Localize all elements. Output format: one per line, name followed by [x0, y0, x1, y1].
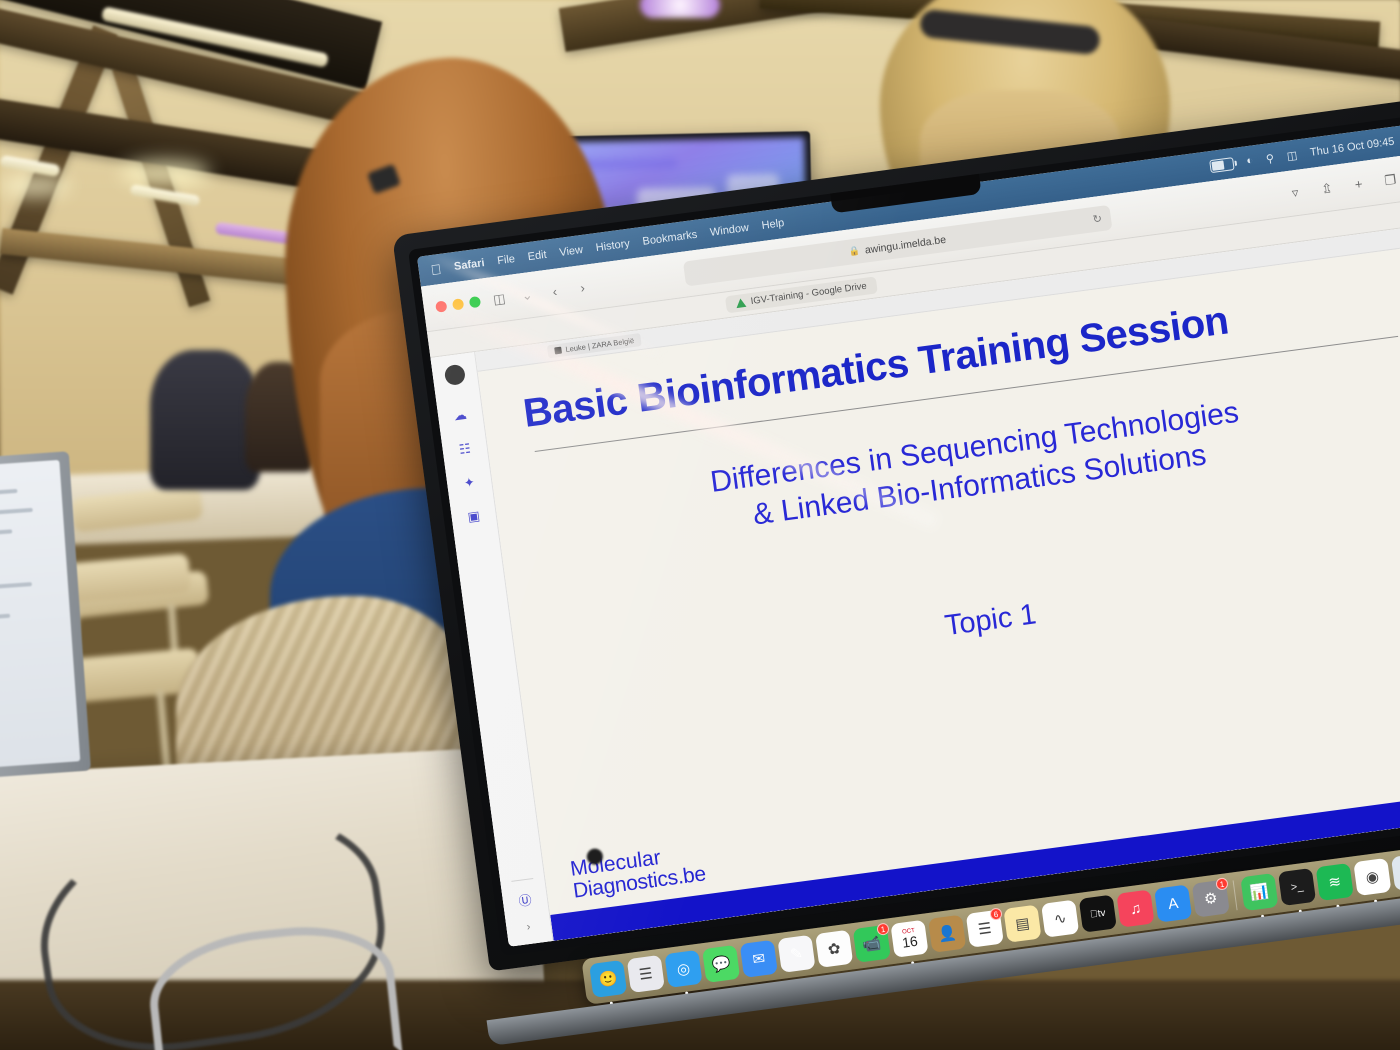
dock-separator — [1233, 880, 1238, 910]
dock-item-numbers[interactable]: 📊 — [1240, 873, 1278, 911]
monitor-icon[interactable]: ▣ — [463, 506, 485, 526]
apps-grid-icon[interactable]: ☷ — [454, 439, 476, 459]
dock-item-photos[interactable]: ✿ — [815, 930, 853, 968]
downloads-icon[interactable]: ▿ — [1285, 183, 1305, 203]
close-button[interactable] — [435, 300, 447, 312]
tab-overview-icon[interactable]: ❐ — [1380, 170, 1400, 190]
user-check-icon[interactable]: Ⓤ — [514, 889, 536, 909]
spotify-icon: ≋ — [1327, 872, 1342, 892]
dock-item-reminders[interactable]: ☰6 — [966, 910, 1004, 948]
macbook-display:  Safari File Edit View History Bookmark… — [417, 125, 1400, 947]
forward-icon[interactable]: › — [572, 278, 592, 298]
chevron-right-icon[interactable]: › — [517, 917, 539, 937]
menu-item-bookmarks[interactable]: Bookmarks — [642, 229, 698, 248]
awingu-sidebar-bottom: Ⓤ › — [500, 877, 551, 939]
dock-item-mail[interactable]: ✉ — [740, 940, 778, 978]
dock-item-appstore[interactable]: A — [1154, 884, 1192, 922]
window-controls[interactable] — [435, 296, 481, 313]
dock-item-notes[interactable]: ▤ — [1003, 905, 1041, 943]
dock-item-finder[interactable]: 🙂 — [589, 960, 627, 998]
dock-item-spotify[interactable]: ≋ — [1316, 863, 1354, 901]
dock-item-messages[interactable]: 💬 — [702, 945, 740, 983]
badge-count: 6 — [989, 907, 1002, 920]
music-icon: ♫ — [1129, 899, 1142, 917]
badge-count: 1 — [876, 922, 889, 935]
dock-item-freeform[interactable]: ✎ — [777, 935, 815, 973]
pin-icon[interactable]: ✦ — [458, 473, 480, 493]
address-value: awingu.imelda.be — [864, 233, 947, 256]
reload-icon[interactable]: ↻ — [1092, 212, 1103, 226]
safari-window: ◫ ⌄ ‹ › 🔒 awingu.imelda.be ↻ ▿ ⇫ + ❐ — [421, 155, 1400, 947]
menu-item-edit[interactable]: Edit — [527, 249, 547, 263]
badge-count: 1 — [1215, 877, 1228, 890]
chrome-icon: ◉ — [1365, 867, 1380, 887]
back-icon[interactable]: ‹ — [545, 281, 565, 301]
launchpad-icon: ☰ — [638, 964, 654, 984]
system-settings-icon: ⚙ — [1203, 889, 1219, 909]
slide-topic: Topic 1 — [517, 541, 1400, 699]
photos-icon: ✿ — [827, 939, 842, 959]
reminders-icon: ☰ — [977, 919, 993, 939]
dock-item-appletv[interactable]: tv — [1079, 895, 1117, 933]
menubar-clock[interactable]: Thu 16 Oct 09:45 — [1309, 136, 1395, 159]
cloud-drive-icon[interactable]: ☁ — [449, 405, 471, 425]
freeform-icon: ✎ — [789, 944, 804, 964]
menu-item-view[interactable]: View — [559, 244, 584, 259]
podcasts-icon: ∿ — [1053, 909, 1068, 929]
menu-item-window[interactable]: Window — [709, 222, 749, 239]
lock-icon: 🔒 — [848, 245, 861, 257]
messages-icon: 💬 — [711, 954, 732, 974]
contacts-icon: 👤 — [937, 924, 958, 944]
menu-item-help[interactable]: Help — [761, 217, 785, 232]
new-tab-icon[interactable]: + — [1348, 174, 1368, 194]
numbers-icon: 📊 — [1249, 882, 1270, 902]
light-glow — [0, 175, 70, 197]
dock-item-system-settings[interactable]: ⚙1 — [1192, 879, 1230, 917]
photo-of-training-room-with-laptop:  Safari File Edit View History Bookmark… — [0, 0, 1400, 1050]
menu-item-history[interactable]: History — [595, 238, 631, 254]
wifi-icon[interactable]: ◐ — [1246, 155, 1254, 168]
ceiling-light-tube — [640, 0, 720, 18]
zoom-button[interactable] — [469, 296, 481, 308]
mail-icon: ✉ — [751, 949, 766, 969]
dock-item-calendar[interactable]: OCT16 — [890, 920, 928, 958]
menu-item-file[interactable]: File — [497, 253, 516, 267]
dock-item-facetime[interactable]: 📹1 — [853, 925, 891, 963]
notes-icon: ▤ — [1014, 914, 1030, 934]
battery-icon[interactable] — [1209, 157, 1235, 173]
dock-item-podcasts[interactable]: ∿ — [1041, 900, 1079, 938]
dock-item-contacts[interactable]: 👤 — [928, 915, 966, 953]
appstore-icon: A — [1167, 894, 1179, 912]
finder-icon: 🙂 — [598, 969, 619, 989]
divider — [511, 878, 533, 882]
safari-icon: ◎ — [676, 959, 691, 979]
dock-item-terminal[interactable]: >_ — [1278, 868, 1316, 906]
dock-item-music[interactable]: ♫ — [1116, 889, 1154, 927]
minimize-button[interactable] — [452, 298, 464, 310]
google-drive-icon — [735, 298, 746, 308]
dock-item-igv[interactable]: igv — [1391, 853, 1400, 891]
terminal-prompt: >_ — [1290, 880, 1304, 894]
dock-item-safari[interactable]: ◎ — [664, 950, 702, 988]
control-center-icon[interactable]: ◫ — [1286, 148, 1298, 162]
calendar-day: 16 — [901, 934, 918, 950]
avatar-icon[interactable] — [444, 364, 466, 386]
seated-person-background — [150, 350, 260, 490]
search-icon[interactable]: ⚲ — [1265, 151, 1275, 165]
share-icon[interactable]: ⇫ — [1317, 178, 1337, 198]
dock-item-chrome[interactable]: ◉ — [1353, 858, 1391, 896]
light-glow — [120, 160, 210, 186]
appletv-label: tv — [1090, 907, 1107, 920]
favicon-icon — [554, 347, 562, 355]
dock-item-launchpad[interactable]: ☰ — [627, 955, 665, 993]
macbook:  Safari File Edit View History Bookmark… — [392, 98, 1400, 1019]
facetime-icon: 📹 — [861, 934, 882, 954]
